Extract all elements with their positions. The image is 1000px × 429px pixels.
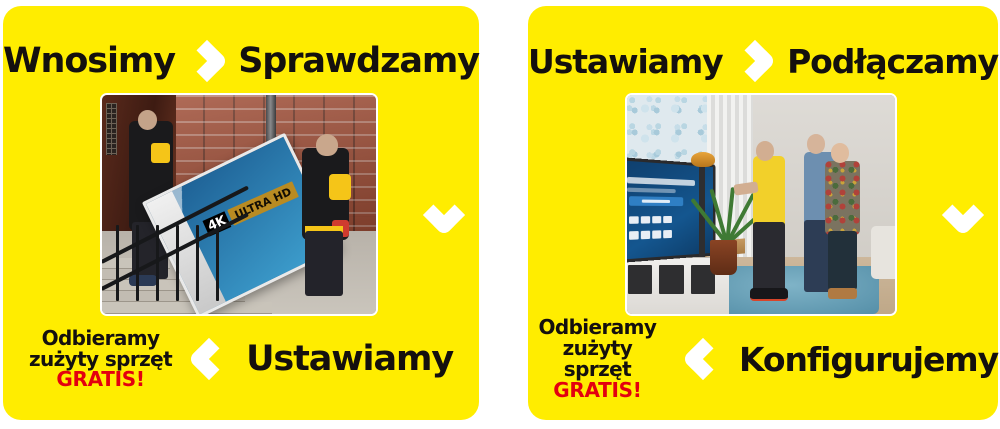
photo-carrying-tv: 4K ULTRA HD [100,93,378,316]
customer-woman-legs [828,231,857,290]
installation-headline-row: Ustawiamy Podłączamy [528,30,998,92]
step-label-wnosimy: Wnosimy [3,44,175,79]
delivery-headline-row: Wnosimy Sprawdzamy [3,30,479,92]
step-label-ustawiamy-top: Ustawiamy [528,45,723,78]
customer-woman-torso [825,161,860,235]
panel-delivery: Wnosimy Sprawdzamy [3,6,479,420]
step-label-podlaczamy: Podłączamy [787,45,998,78]
floor-lamp-shade [691,152,715,167]
tv-setup-highlight [629,196,683,206]
chevron-left-icon [178,328,240,390]
worker-back-sleeve [151,143,170,163]
tv-setup-subtitle-bar [627,187,676,192]
customer-woman-shoes [828,288,857,299]
infographic-stage: Wnosimy Sprawdzamy [0,0,1000,429]
chevron-down-icon [413,184,475,246]
step-label-sprawdzamy: Sprawdzamy [238,44,479,79]
pickup-line-1: Odbieramy [528,317,667,338]
worker-front-sleeve [329,174,351,200]
chevron-right-icon [733,30,778,92]
stair-railing [107,178,249,301]
sofa [871,226,895,279]
photo-installing-tv [625,93,897,316]
tv-setup-title-bar [627,176,695,186]
pickup-note-right: Odbieramy zużyty sprzęt GRATIS! [528,317,667,400]
technician-shoes [750,288,788,301]
palm-leaves [699,187,750,244]
worker-back-head [138,110,157,130]
chevron-right-icon [185,30,228,92]
customer-woman-head [831,143,850,163]
pickup-line-2: zużyty sprzęt [528,338,667,380]
plant-pot [710,240,737,275]
panel-installation: Ustawiamy Podłączamy [528,6,998,420]
technician-head [756,141,775,161]
technician-legs [753,222,785,292]
worker-front-legs [305,231,343,297]
installation-bottom-row: Odbieramy zużyty sprzęt GRATIS! Konfigur… [528,320,998,398]
pickup-line-1: Odbieramy [29,328,172,349]
door-grate [106,103,116,155]
pickup-line-3-gratis: GRATIS! [528,380,667,401]
tv-setup-option-row-2 [629,230,672,239]
worker-front-head [316,134,338,156]
delivery-bottom-row: Odbieramy zużyty sprzęt GRATIS! Ustawiam… [3,320,479,398]
scene-stairs: 4K ULTRA HD [102,95,376,314]
pickup-line-2: zużyty sprzęt [29,349,172,370]
pickup-line-3-gratis: GRATIS! [29,369,172,390]
chevron-left-icon [673,328,733,390]
step-label-konfigurujemy: Konfigurujemy [739,340,998,379]
pickup-note-left: Odbieramy zużyty sprzęt GRATIS! [29,328,172,390]
chevron-down-icon [932,184,994,246]
scene-living-room [627,95,895,314]
tv-setup-option-row-1 [629,215,672,223]
step-label-ustawiamy: Ustawiamy [246,339,453,379]
